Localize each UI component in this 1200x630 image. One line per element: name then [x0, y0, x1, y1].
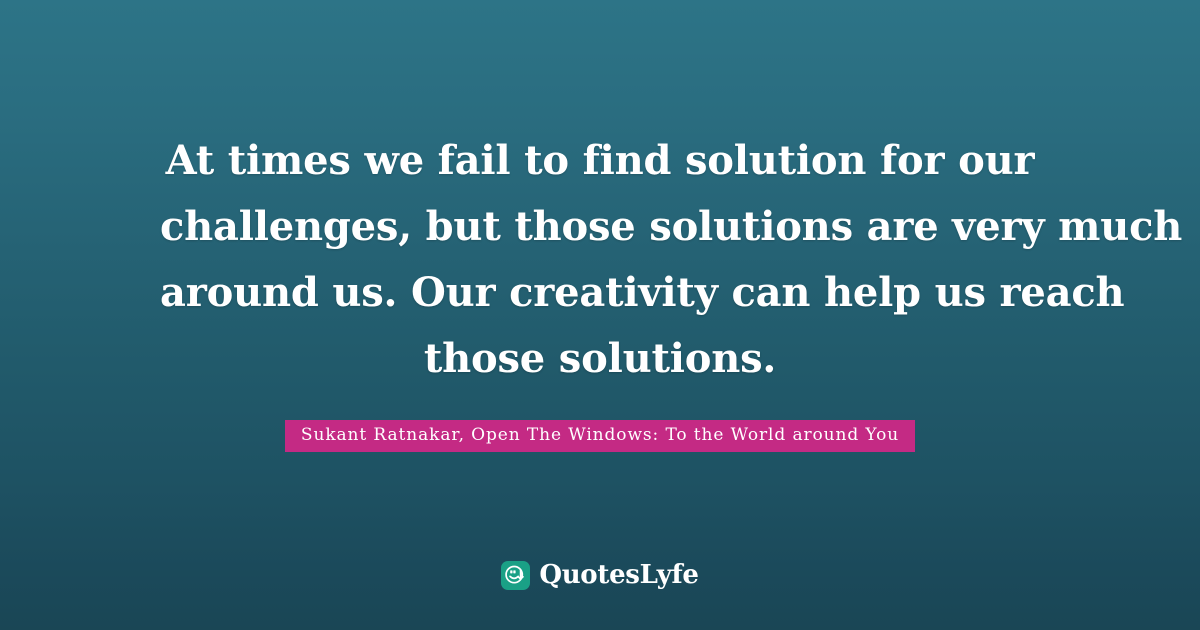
attribution-label: Sukant Ratnakar, Open The Windows: To th…: [301, 425, 899, 445]
quote-card: At times we fail to find solution for ou…: [0, 0, 1200, 630]
brand-name: QuotesLyfe: [539, 561, 698, 590]
quote-smiley-icon: [501, 561, 530, 590]
quote-line: around us. Our creativity can help us re…: [160, 260, 1040, 326]
quote-text: At times we fail to find solution for ou…: [160, 128, 1040, 392]
quote-line: At times we fail to find solution for ou…: [160, 128, 1040, 194]
quote-line: challenges, but those solutions are very…: [160, 194, 1040, 260]
attribution-badge: Sukant Ratnakar, Open The Windows: To th…: [285, 420, 915, 452]
brand-footer[interactable]: QuotesLyfe: [0, 561, 1200, 590]
quote-line: those solutions.: [160, 326, 1040, 392]
